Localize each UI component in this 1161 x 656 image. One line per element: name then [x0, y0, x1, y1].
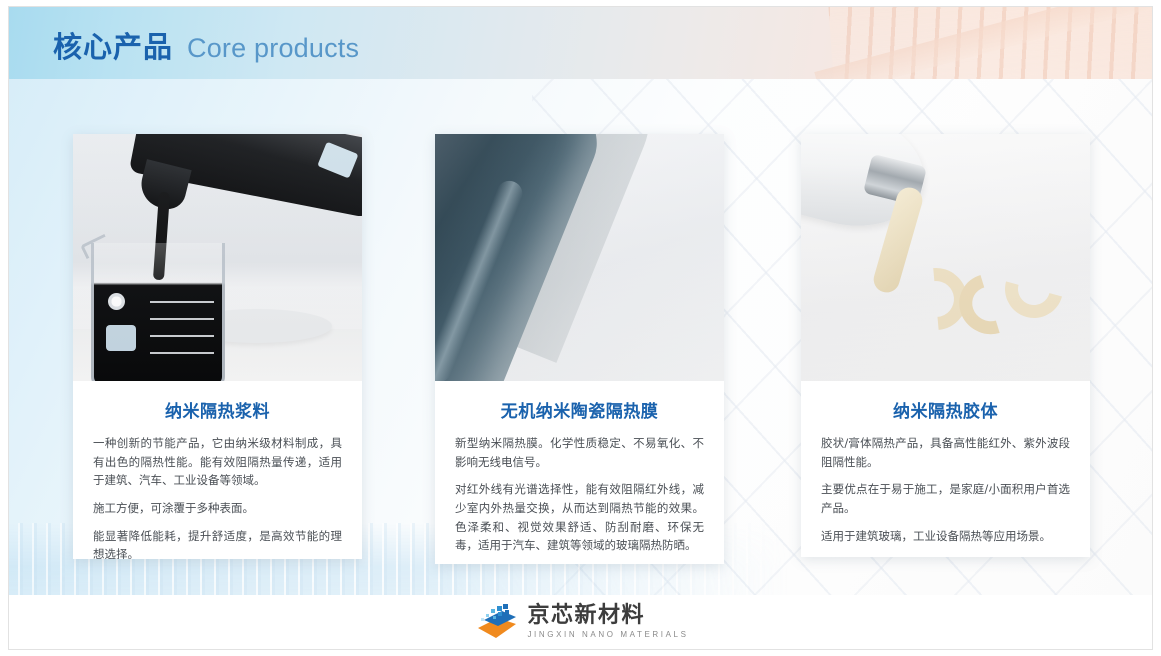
brand-logo[interactable]: 京芯新材料 JINGXIN NANO MATERIALS — [472, 604, 688, 640]
product-image-insulating-paste — [801, 134, 1090, 381]
product-card-title: 无机纳米陶瓷隔热膜 — [455, 397, 704, 422]
product-image-nano-slurry — [73, 134, 362, 381]
product-image-ceramic-film — [435, 134, 724, 381]
beaker-brand-icon — [108, 293, 125, 310]
product-card-body: 无机纳米陶瓷隔热膜 新型纳米隔热膜。化学性质稳定、不易氧化、不影响无线电信号。 … — [435, 381, 724, 564]
beaker-label-shape — [106, 325, 136, 351]
jingxin-logo-icon — [472, 604, 518, 640]
slide-canvas: 核心产品 Core products — [8, 6, 1153, 650]
page-title: 核心产品 Core products — [53, 24, 359, 66]
product-card-paragraph: 适用于建筑玻璃，工业设备隔热等应用场景。 — [821, 527, 1070, 546]
product-card-title: 纳米隔热胶体 — [821, 397, 1070, 422]
beaker-graduation-marks — [150, 301, 214, 369]
product-card[interactable]: 纳米隔热胶体 胶状/膏体隔热产品，具备高性能红外、紫外波段阻隔性能。 主要优点在… — [801, 134, 1090, 557]
classical-columns-backdrop-image — [827, 7, 1152, 79]
slide-header: 核心产品 Core products — [9, 7, 1152, 79]
product-card[interactable]: 纳米隔热浆料 一种创新的节能产品，它由纳米级材料制成，具有出色的隔热性能。能有效… — [73, 134, 362, 559]
product-card-paragraph: 一种创新的节能产品，它由纳米级材料制成，具有出色的隔热性能。能有效阻隔热量传递，… — [93, 434, 342, 490]
product-card-paragraph: 对红外线有光谱选择性，能有效阻隔红外线，减少室内外热量交换，从而达到隔热节能的效… — [455, 480, 704, 555]
product-card-paragraph: 胶状/膏体隔热产品，具备高性能红外、紫外波段阻隔性能。 — [821, 434, 1070, 471]
brand-name-en: JINGXIN NANO MATERIALS — [527, 631, 688, 639]
page-title-cn: 核心产品 — [53, 24, 173, 66]
product-card-paragraph: 能显著降低能耗，提升舒适度，是高效节能的理想选择。 — [93, 527, 342, 560]
page-title-en: Core products — [187, 33, 359, 64]
product-card-paragraph: 新型纳米隔热膜。化学性质稳定、不易氧化、不影响无线电信号。 — [455, 434, 704, 471]
product-card-title: 纳米隔热浆料 — [93, 397, 342, 422]
product-card-body: 纳米隔热胶体 胶状/膏体隔热产品，具备高性能红外、紫外波段阻隔性能。 主要优点在… — [801, 381, 1090, 557]
beaker-shape — [91, 243, 225, 381]
content-area: 纳米隔热浆料 一种创新的节能产品，它由纳米级材料制成，具有出色的隔热性能。能有效… — [9, 79, 1152, 597]
product-card-paragraph: 主要优点在于易于施工，是家庭/小面积用户首选产品。 — [821, 480, 1070, 517]
brand-logo-text: 京芯新材料 JINGXIN NANO MATERIALS — [527, 605, 688, 639]
product-card-paragraph: 施工方便，可涂覆于多种表面。 — [93, 499, 342, 518]
slide: 核心产品 Core products — [0, 0, 1161, 656]
brand-name-cn: 京芯新材料 — [527, 605, 688, 627]
slide-footer: 京芯新材料 JINGXIN NANO MATERIALS — [9, 595, 1152, 649]
product-card-list: 纳米隔热浆料 一种创新的节能产品，它由纳米级材料制成，具有出色的隔热性能。能有效… — [9, 79, 1152, 597]
bottle-label-shape — [317, 142, 358, 179]
product-card[interactable]: 无机纳米陶瓷隔热膜 新型纳米隔热膜。化学性质稳定、不易氧化、不影响无线电信号。 … — [435, 134, 724, 564]
product-card-body: 纳米隔热浆料 一种创新的节能产品，它由纳米级材料制成，具有出色的隔热性能。能有效… — [73, 381, 362, 559]
